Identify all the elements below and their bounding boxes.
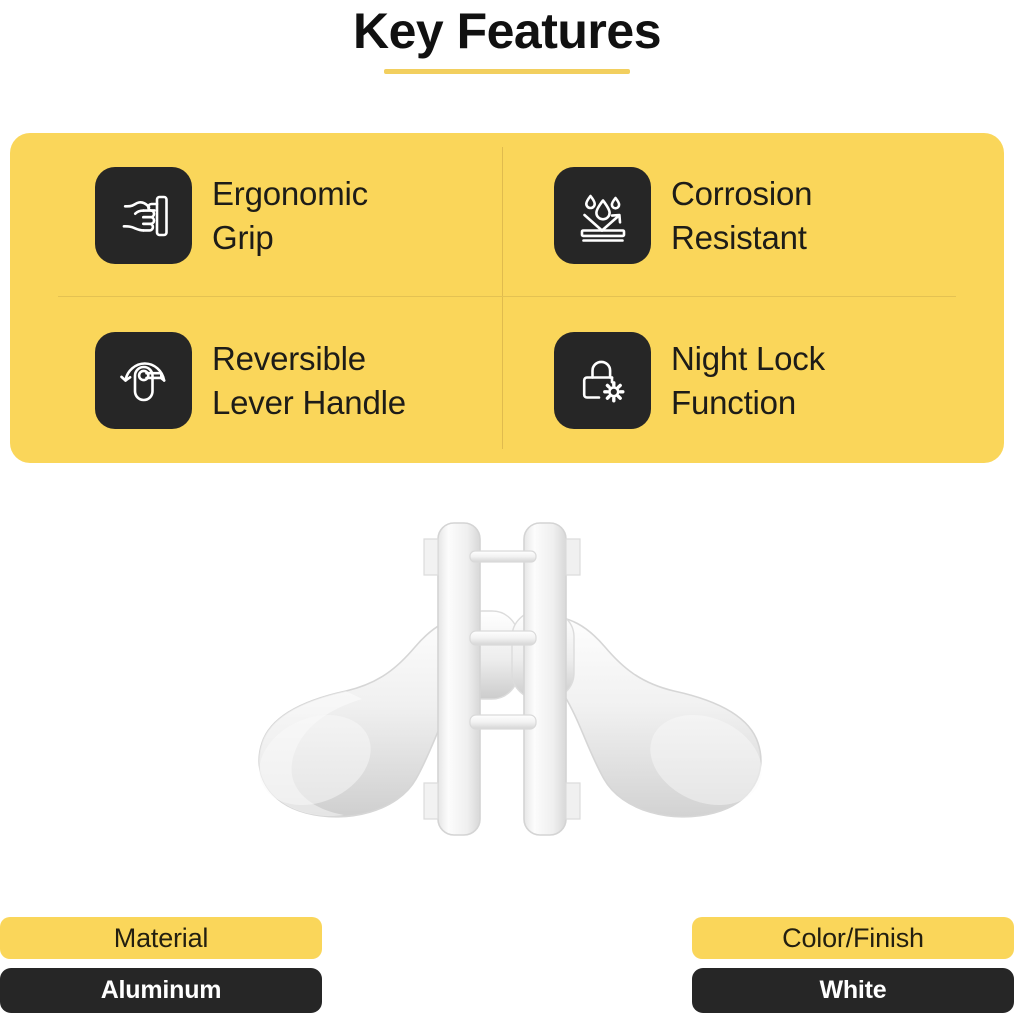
- padlock-gear-icon: [554, 332, 651, 429]
- feature-item-corrosion-resistant: Corrosion Resistant: [507, 133, 1004, 298]
- spec-value-color-finish: White: [692, 968, 1014, 1013]
- feature-label-ergonomic-grip: Ergonomic Grip: [212, 172, 368, 260]
- hand-grip-icon: [95, 167, 192, 264]
- spec-group-color-finish: Color/Finish White: [692, 917, 1014, 1013]
- key-features-panel: Ergonomic Grip Corrosion Resistant: [10, 133, 1004, 463]
- feature-item-reversible-lever-handle: Reversible Lever Handle: [10, 298, 507, 463]
- feature-item-night-lock-function: Night Lock Function: [507, 298, 1004, 463]
- spec-title-material: Material: [0, 917, 322, 959]
- page-title: Key Features: [0, 0, 1014, 60]
- spec-title-color-finish: Color/Finish: [692, 917, 1014, 959]
- reversible-lever-rotation-icon: [95, 332, 192, 429]
- feature-label-reversible-lever-handle: Reversible Lever Handle: [212, 337, 406, 425]
- mounting-plate-left: [438, 523, 480, 835]
- white-door-lever-handle-set: [140, 515, 880, 855]
- feature-label-night-lock-function: Night Lock Function: [671, 337, 825, 425]
- title-underline-rule: [384, 69, 630, 74]
- feature-label-corrosion-resistant: Corrosion Resistant: [671, 172, 812, 260]
- water-repellent-surface-icon: [554, 167, 651, 264]
- spec-value-material: Aluminum: [0, 968, 322, 1013]
- mounting-plate-right: [524, 523, 566, 835]
- page-header: Key Features: [0, 0, 1014, 74]
- spec-group-material: Material Aluminum: [0, 917, 322, 1013]
- feature-item-ergonomic-grip: Ergonomic Grip: [10, 133, 507, 298]
- product-image-area: [0, 470, 1014, 890]
